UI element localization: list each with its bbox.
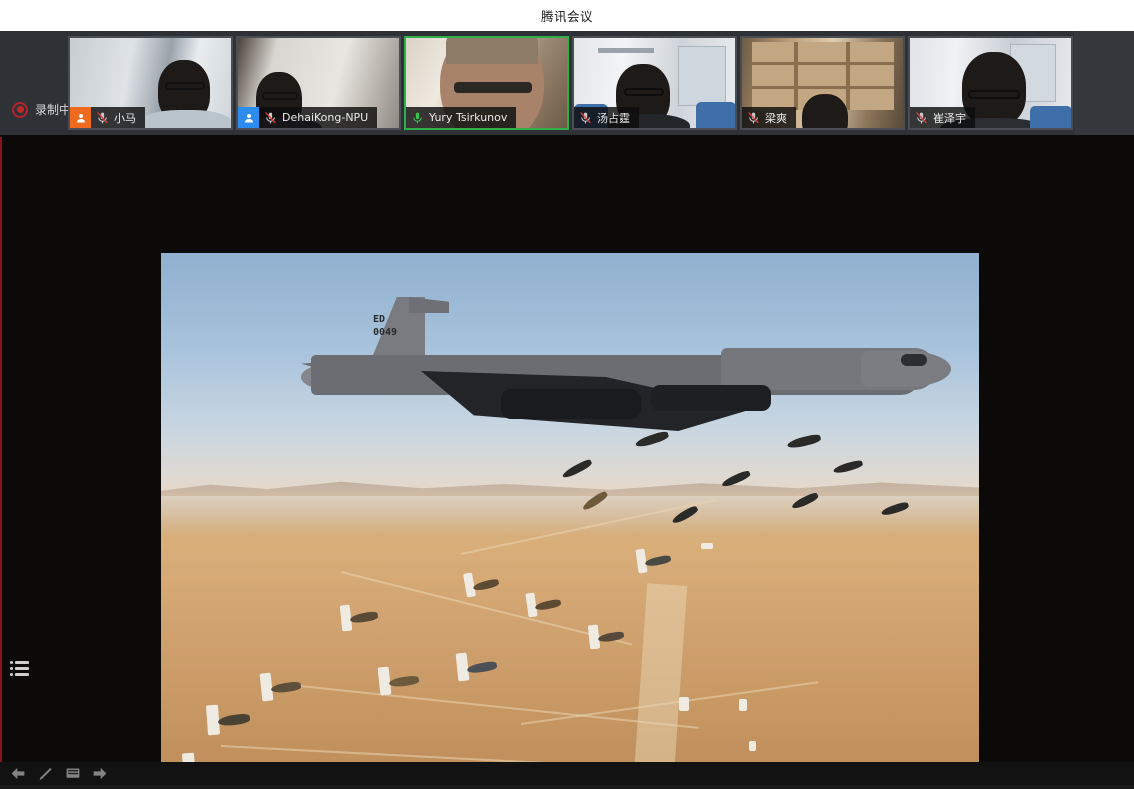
participant-filmstrip: 录制中 小马 [0,31,1074,135]
participant-tile-1[interactable]: DehaiKong-NPU [236,36,401,130]
recording-indicator: 录制中 [12,101,71,118]
meeting-window: 腾讯会议 录制中 [0,0,1134,789]
app-title: 腾讯会议 [541,6,593,25]
recording-label: 录制中 [35,101,71,118]
window-title-bar: 腾讯会议 [0,0,1134,31]
tail-markings: ED0049 [373,313,397,339]
screen-icon[interactable] [63,765,83,782]
mic-muted-icon[interactable] [574,107,596,128]
participant-name: 汤占霆 [596,110,630,126]
pen-icon[interactable] [36,765,56,782]
participant-tile-3[interactable]: 汤占霆 [572,36,737,130]
participant-name: Yury Tsirkunov [428,111,507,124]
mic-muted-icon[interactable] [910,107,932,128]
participant-name: 梁爽 [764,110,787,126]
mic-muted-icon[interactable] [259,107,281,128]
participant-nametag: 崔泽宇 [910,107,975,128]
participant-name: 小马 [113,110,136,126]
participant-name: 崔泽宇 [932,110,966,126]
participant-name: DehaiKong-NPU [281,111,368,124]
participant-tile-0[interactable]: 小马 [68,36,233,130]
participant-nametag: 小马 [70,107,145,128]
mic-on-icon[interactable] [406,107,428,128]
b1b-lancer-aircraft: ED0049 [301,293,941,443]
participant-tiles: 小马 DehaiKong-NPU [68,36,1073,130]
slide-photo-b1b-lancer: ED0049 [161,253,979,764]
avatar [238,107,259,128]
participant-tile-5[interactable]: 崔泽宇 [908,36,1073,130]
arrow-left-icon[interactable] [8,765,28,782]
presentation-toolbar [0,762,1134,785]
mic-muted-icon[interactable] [91,107,113,128]
record-dot-icon [12,102,28,118]
participant-nametag: 梁爽 [742,107,796,128]
participant-nametag: 汤占霆 [574,107,639,128]
participant-tile-2[interactable]: Yury Tsirkunov [404,36,569,130]
mic-muted-icon[interactable] [742,107,764,128]
participant-nametag: Yury Tsirkunov [406,107,516,128]
participant-tile-4[interactable]: 梁爽 [740,36,905,130]
filmstrip-overflow-area [1074,31,1134,135]
left-edge-accent [0,137,2,789]
avatar [70,107,91,128]
os-taskbar [0,785,1134,789]
participant-nametag: DehaiKong-NPU [238,107,377,128]
arrow-right-icon[interactable] [90,765,110,782]
list-icon[interactable] [10,660,30,678]
